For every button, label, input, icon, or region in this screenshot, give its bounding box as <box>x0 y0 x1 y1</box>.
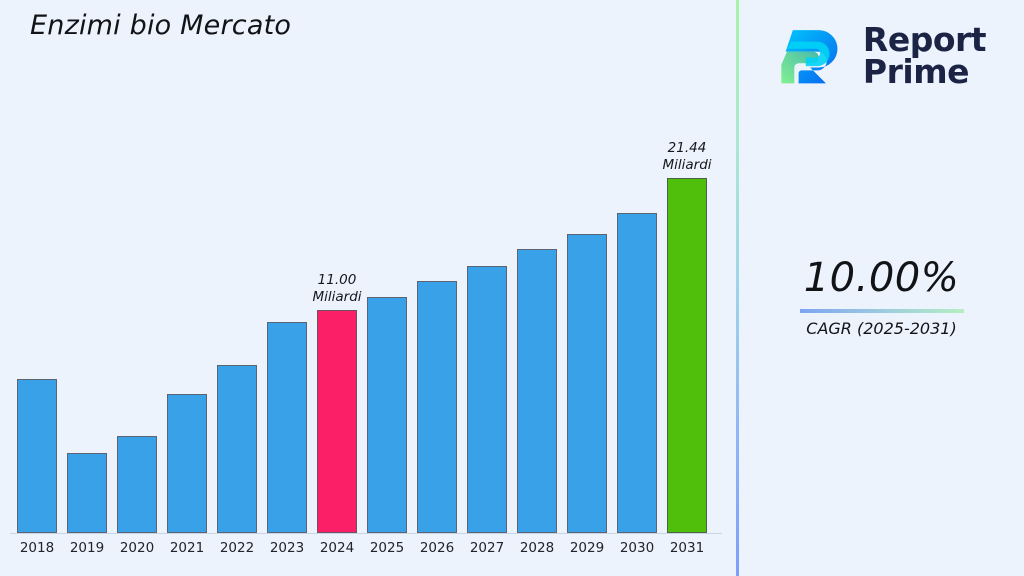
brand-line-2: Prime <box>863 56 986 88</box>
bar-rect-2022 <box>217 365 257 533</box>
bar-2029 <box>567 234 607 533</box>
x-tick-2019: 2019 <box>67 540 107 556</box>
x-axis-tick-labels: 2018201920202021202220232024202520262027… <box>0 534 736 576</box>
bar-rect-2019 <box>67 453 107 533</box>
x-tick-2021: 2021 <box>167 540 207 556</box>
bar-2028 <box>517 249 557 533</box>
bar-data-label-2031: 21.44Miliardi <box>631 140 743 174</box>
x-tick-2027: 2027 <box>467 540 507 556</box>
x-tick-2026: 2026 <box>417 540 457 556</box>
bar-2021 <box>167 394 207 533</box>
x-tick-2028: 2028 <box>517 540 557 556</box>
bar-data-label-unit-2031: Miliardi <box>631 157 743 174</box>
bar-2026 <box>417 281 457 533</box>
bar-2019 <box>67 453 107 533</box>
bar-rect-2021 <box>167 394 207 533</box>
bar-rect-2031 <box>667 178 707 533</box>
bar-2018 <box>17 379 57 533</box>
x-tick-2025: 2025 <box>367 540 407 556</box>
x-tick-2024: 2024 <box>317 540 357 556</box>
brand-wordmark: Report Prime <box>863 24 986 89</box>
page-title: Enzimi bio Mercato <box>30 10 291 41</box>
x-tick-2029: 2029 <box>567 540 607 556</box>
brand-logo: Report Prime <box>739 8 1024 104</box>
bar-2020 <box>117 436 157 533</box>
x-tick-2018: 2018 <box>17 540 57 556</box>
infographic-canvas: Enzimi bio Mercato 11.00Miliardi21.44Mil… <box>0 0 1024 576</box>
chart-panel: Enzimi bio Mercato 11.00Miliardi21.44Mil… <box>0 0 736 576</box>
side-panel: Report Prime 10.00% CAGR (2025-2031) <box>739 0 1024 576</box>
bar-2025 <box>367 297 407 533</box>
bar-2030 <box>617 213 657 533</box>
bar-rect-2020 <box>117 436 157 533</box>
x-tick-2031: 2031 <box>667 540 707 556</box>
x-tick-2030: 2030 <box>617 540 657 556</box>
bar-rect-2026 <box>417 281 457 533</box>
bar-2023 <box>267 322 307 533</box>
bar-rect-2027 <box>467 266 507 533</box>
x-tick-2022: 2022 <box>217 540 257 556</box>
cagr-block: 10.00% CAGR (2025-2031) <box>739 255 1024 338</box>
bar-rect-2030 <box>617 213 657 533</box>
bar-rect-2025 <box>367 297 407 533</box>
cagr-caption: CAGR (2025-2031) <box>739 319 1024 338</box>
bar-rect-2018 <box>17 379 57 533</box>
bar-rect-2028 <box>517 249 557 533</box>
bar-2027 <box>467 266 507 533</box>
bar-data-label-value-2024: 11.00 <box>281 272 393 289</box>
bar-rect-2024 <box>317 310 357 533</box>
report-prime-logo-icon <box>777 20 849 92</box>
x-tick-2023: 2023 <box>267 540 307 556</box>
cagr-value: 10.00% <box>739 255 1024 301</box>
bar-rect-2023 <box>267 322 307 533</box>
x-tick-2020: 2020 <box>117 540 157 556</box>
bar-chart-plot-area: 11.00Miliardi21.44Miliardi <box>0 110 736 534</box>
bar-2024: 11.00Miliardi <box>317 310 357 533</box>
cagr-divider-rule <box>800 309 964 313</box>
bar-2031: 21.44Miliardi <box>667 178 707 533</box>
bar-data-label-value-2031: 21.44 <box>631 140 743 157</box>
bar-2022 <box>217 365 257 533</box>
bar-rect-2029 <box>567 234 607 533</box>
